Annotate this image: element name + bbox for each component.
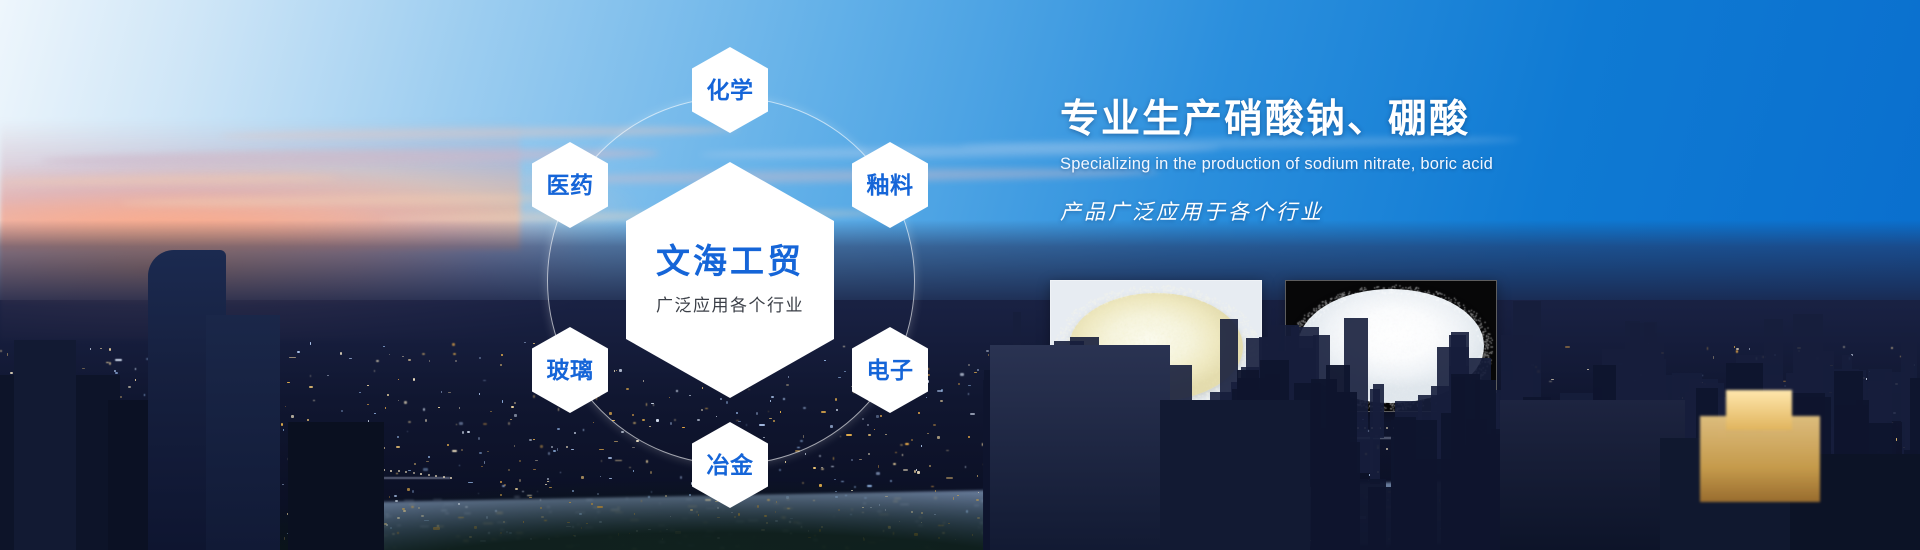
building [990,345,1170,550]
building [1315,442,1359,550]
building [288,422,384,550]
building [1160,400,1310,550]
building [206,315,280,550]
company-slogan: 广泛应用各个行业 [656,291,804,316]
building [1441,413,1455,550]
hex-node-label: 冶金 [707,454,754,477]
hex-node-label: 釉料 [867,174,914,197]
hex-node-label: 玻璃 [547,359,594,382]
tagline: 产品广泛应用于各个行业 [1060,196,1760,226]
hero-banner: 文海工贸 广泛应用各个行业 化学 釉料 电子 冶金 玻璃 医药 专业生产硝酸钠、… [0,0,1920,550]
building [1373,384,1384,438]
hex-node-label: 化学 [707,79,754,102]
building [1500,400,1685,550]
banner-copy: 专业生产硝酸钠、硼酸 Specializing in the productio… [1060,98,1760,226]
hex-node-label: 电子 [867,359,914,382]
building [1368,487,1404,550]
building [1726,390,1792,430]
headline: 专业生产硝酸钠、硼酸 [1060,98,1760,143]
building [1475,380,1496,550]
subheadline-english: Specializing in the production of sodium… [1060,155,1760,174]
hex-node-label: 医药 [547,174,594,197]
industry-hex-diagram: 文海工贸 广泛应用各个行业 化学 釉料 电子 冶金 玻璃 医药 [430,30,1030,530]
building [14,340,76,550]
company-name: 文海工贸 [656,244,804,281]
